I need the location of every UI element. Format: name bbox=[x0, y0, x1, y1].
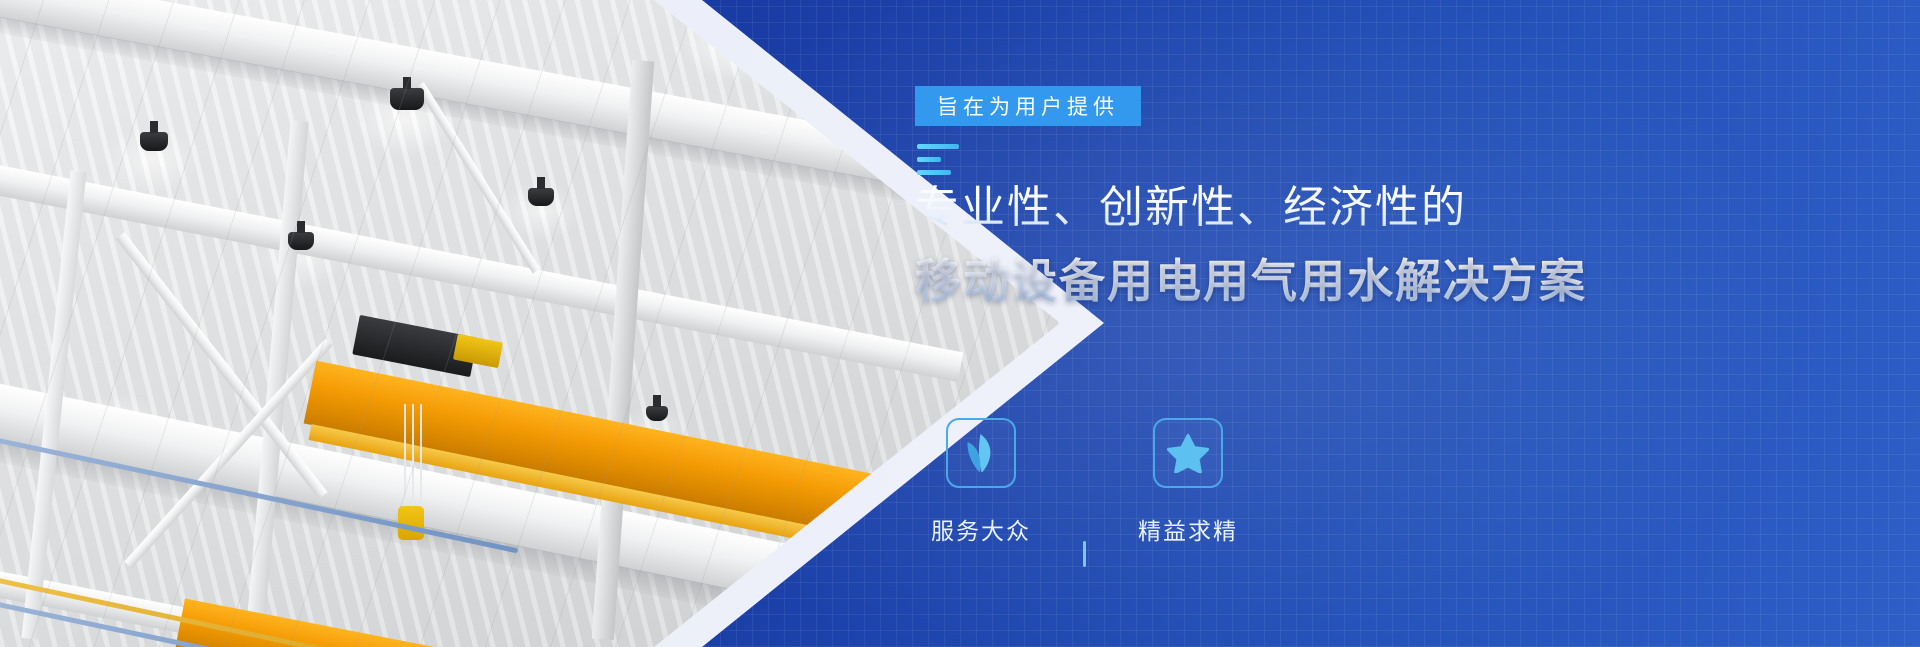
headline-line-2: 移动设备用电用气用水解决方案 bbox=[915, 253, 1587, 311]
accent-line-2 bbox=[917, 157, 941, 162]
headline-group: 专业性、创新性、经济性的 移动设备用电用气用水解决方案 bbox=[915, 180, 1587, 311]
banner-content: 旨在为用户提供 专业性、创新性、经济性的 移动设备用电用气用水解决方案 服务大众 bbox=[915, 0, 1920, 647]
feature-item-service: 服务大众 bbox=[915, 418, 1047, 546]
feature-label-service: 服务大众 bbox=[931, 512, 1031, 546]
star-icon-box bbox=[1153, 418, 1223, 488]
tagline-badge: 旨在为用户提供 bbox=[915, 86, 1141, 126]
hero-banner: 旨在为用户提供 专业性、创新性、经济性的 移动设备用电用气用水解决方案 服务大众 bbox=[0, 0, 1920, 647]
accent-line-1 bbox=[917, 144, 959, 149]
headline-line-1: 专业性、创新性、经济性的 bbox=[915, 180, 1587, 235]
feature-list: 服务大众 精益求精 bbox=[915, 418, 1254, 567]
accent-lines-decoration bbox=[917, 144, 959, 183]
star-icon bbox=[1167, 433, 1209, 473]
leaf-icon-box bbox=[946, 418, 1016, 488]
leaf-icon bbox=[961, 432, 1001, 474]
feature-divider bbox=[1083, 541, 1086, 567]
feature-label-excellence: 精益求精 bbox=[1138, 512, 1238, 546]
feature-item-excellence: 精益求精 bbox=[1122, 418, 1254, 546]
accent-line-3 bbox=[917, 170, 951, 175]
